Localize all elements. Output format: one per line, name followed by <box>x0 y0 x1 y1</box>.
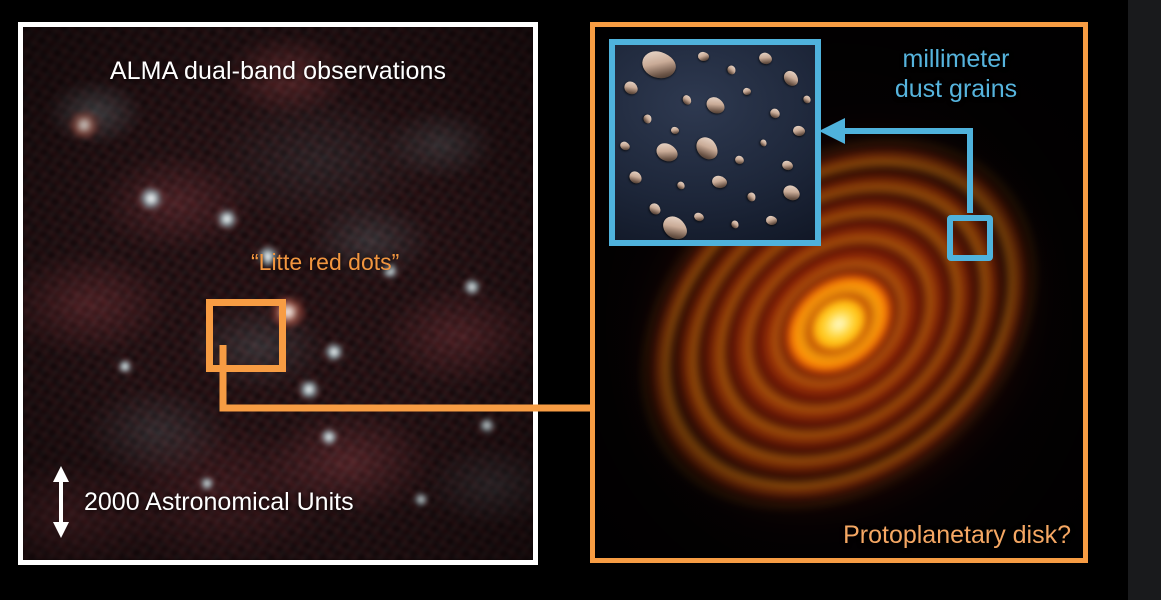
dust-grain <box>733 154 745 166</box>
dust-grain <box>746 192 756 203</box>
millimeter-dust-grains-label: millimeter dust grains <box>831 45 1081 104</box>
scale-bar-label: 2000 Astronomical Units <box>84 488 354 517</box>
dust-grain <box>627 169 644 186</box>
dust-grain <box>653 140 680 165</box>
dust-grain <box>697 51 709 62</box>
dust-grain <box>726 65 737 76</box>
dust-grain <box>757 51 773 66</box>
alma-protoplanetary-disk-figure: ALMA dual-band observations “Litte red d… <box>0 0 1161 600</box>
dust-grain <box>642 114 651 124</box>
dust-grain <box>622 79 640 97</box>
dust-grain <box>703 94 727 117</box>
dust-grain <box>676 180 686 190</box>
dust-grain <box>780 160 794 173</box>
dust-grain <box>792 124 806 137</box>
panel-title: ALMA dual-band observations <box>23 57 533 86</box>
dust-grain <box>639 47 679 82</box>
dust-label-line2: dust grains <box>831 75 1081 105</box>
dust-grain-layer <box>615 45 815 240</box>
dust-grain <box>693 211 705 223</box>
right-filler-strip <box>1128 0 1161 600</box>
protoplanetary-disk-panel: millimeter dust grains Protoplanetary di… <box>590 22 1088 563</box>
dust-grain <box>710 174 728 190</box>
dust-grain <box>692 133 722 164</box>
dust-grain <box>802 94 812 104</box>
protoplanetary-disk-label: Protoplanetary disk? <box>843 521 1071 550</box>
scale-bar: 2000 Astronomical Units <box>49 466 354 538</box>
dust-grain <box>619 140 632 152</box>
dust-grain-region-box[interactable] <box>947 215 993 261</box>
dust-grain <box>742 88 751 97</box>
dust-grain <box>659 212 692 244</box>
dust-grain <box>765 215 778 226</box>
dust-grain-inset[interactable] <box>609 39 821 246</box>
little-red-dot-box[interactable] <box>206 299 286 372</box>
dust-grain <box>647 201 662 217</box>
dust-grain <box>768 107 781 120</box>
dust-grain <box>759 138 767 147</box>
alma-observation-panel: ALMA dual-band observations “Litte red d… <box>18 22 538 565</box>
dust-grain <box>681 93 693 106</box>
dust-grain <box>670 126 680 135</box>
dust-label-line1: millimeter <box>831 45 1081 75</box>
dust-grain <box>780 183 802 204</box>
dust-grain <box>730 219 740 229</box>
double-arrow-icon <box>49 466 73 538</box>
dust-grain <box>781 68 801 89</box>
little-red-dots-label: “Litte red dots” <box>251 249 399 276</box>
